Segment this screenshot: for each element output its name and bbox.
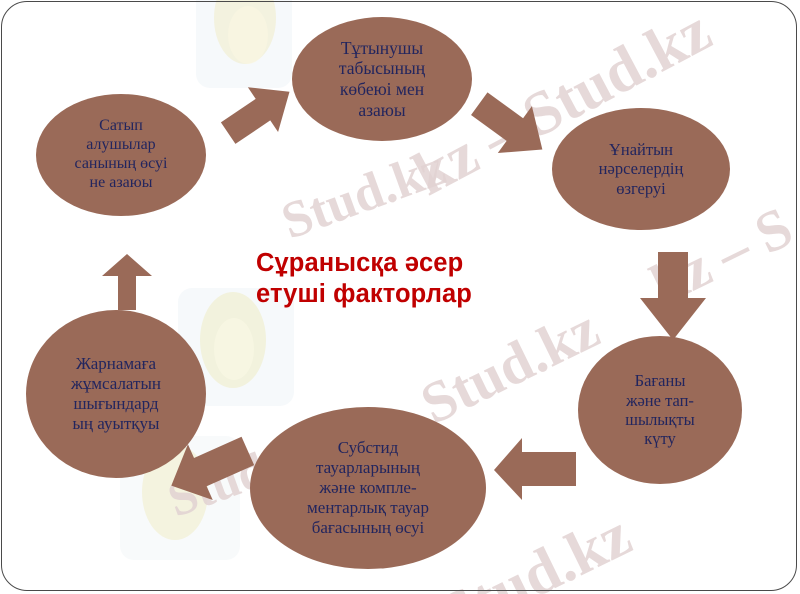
- arrow-price-to-substitutes: [488, 434, 584, 508]
- node-consumer-income-label: Тұтынушы табысының көбеюі мен азаюы: [299, 38, 465, 121]
- arrow-buyers-to-income: [212, 76, 304, 150]
- node-advertising-label: Жарнамаға жұмсалатын шығындард ың ауытқу…: [33, 354, 199, 434]
- watermark-flower-mid-inner: [214, 318, 254, 380]
- node-preferences[interactable]: Ұнайтын нәрселердің өзгеруі: [552, 108, 730, 230]
- arrow-preferences-to-price: [632, 248, 714, 344]
- node-advertising[interactable]: Жарнамаға жұмсалатын шығындард ың ауытқу…: [26, 310, 206, 478]
- node-buyers-count-label: Сатып алушылар санының өсуі не азаюы: [43, 117, 199, 193]
- node-preferences-label: Ұнайтын нәрселердің өзгеруі: [559, 140, 723, 198]
- watermark-flower-top: [214, 0, 276, 64]
- node-price-deficit-label: Бағаны және тап- шылықты күту: [585, 371, 736, 449]
- node-substitutes[interactable]: Субстид тауарларының және компле- ментар…: [250, 407, 486, 569]
- watermark-logo-square-top: [196, 0, 292, 88]
- node-substitutes-label: Субстид тауарларының және компле- ментар…: [259, 438, 476, 538]
- slide-canvas: kz – Stud.kz Stud.kz kz – Stud.kz Stud.k…: [0, 0, 800, 594]
- arrow-income-to-preferences: [462, 84, 558, 168]
- node-price-deficit[interactable]: Бағаны және тап- шылықты күту: [578, 336, 742, 484]
- node-consumer-income[interactable]: Тұтынушы табысының көбеюі мен азаюы: [292, 17, 472, 141]
- node-buyers-count[interactable]: Сатып алушылар санының өсуі не азаюы: [36, 94, 206, 216]
- watermark-flower-top-inner: [228, 6, 268, 64]
- center-title: Сұранысқа әсер етуші факторлар: [256, 248, 556, 310]
- watermark-upper-left: Stud.kz: [274, 138, 453, 251]
- arrow-advertising-to-buyers: [96, 252, 158, 314]
